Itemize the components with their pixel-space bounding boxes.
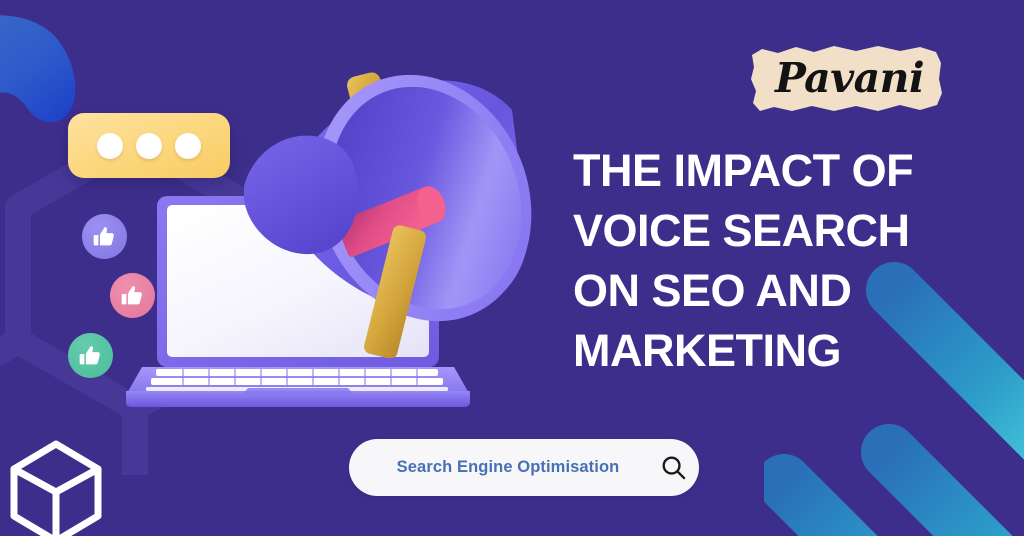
search-icon[interactable]: [653, 454, 699, 481]
thumbs-up-icon: [78, 343, 103, 368]
typing-dot: [97, 133, 123, 159]
reaction-badge-purple: [82, 214, 127, 259]
banner-canvas: Pavani: [0, 0, 1024, 536]
headline-line-1: THE IMPACT OF: [573, 141, 973, 201]
reaction-badge-pink: [110, 273, 155, 318]
search-input[interactable]: Search Engine Optimisation: [349, 458, 653, 477]
search-bar[interactable]: Search Engine Optimisation: [349, 439, 699, 496]
logo-wordmark: Pavani: [748, 41, 945, 119]
headline-line-3: ON SEO AND: [573, 261, 973, 321]
headline-line-4: MARKETING: [573, 321, 973, 381]
thumbs-up-icon: [92, 224, 117, 249]
megaphone-icon: [228, 58, 546, 358]
typing-dot: [175, 133, 201, 159]
thumbs-up-icon: [120, 283, 145, 308]
brand-logo: Pavani: [748, 41, 945, 119]
typing-dot: [136, 133, 162, 159]
typing-indicator: [68, 113, 230, 178]
reaction-badge-green: [68, 333, 113, 378]
page-title: THE IMPACT OF VOICE SEARCH ON SEO AND MA…: [573, 141, 973, 381]
cube-outline-icon: [2, 428, 114, 536]
headline-line-2: VOICE SEARCH: [573, 201, 973, 261]
